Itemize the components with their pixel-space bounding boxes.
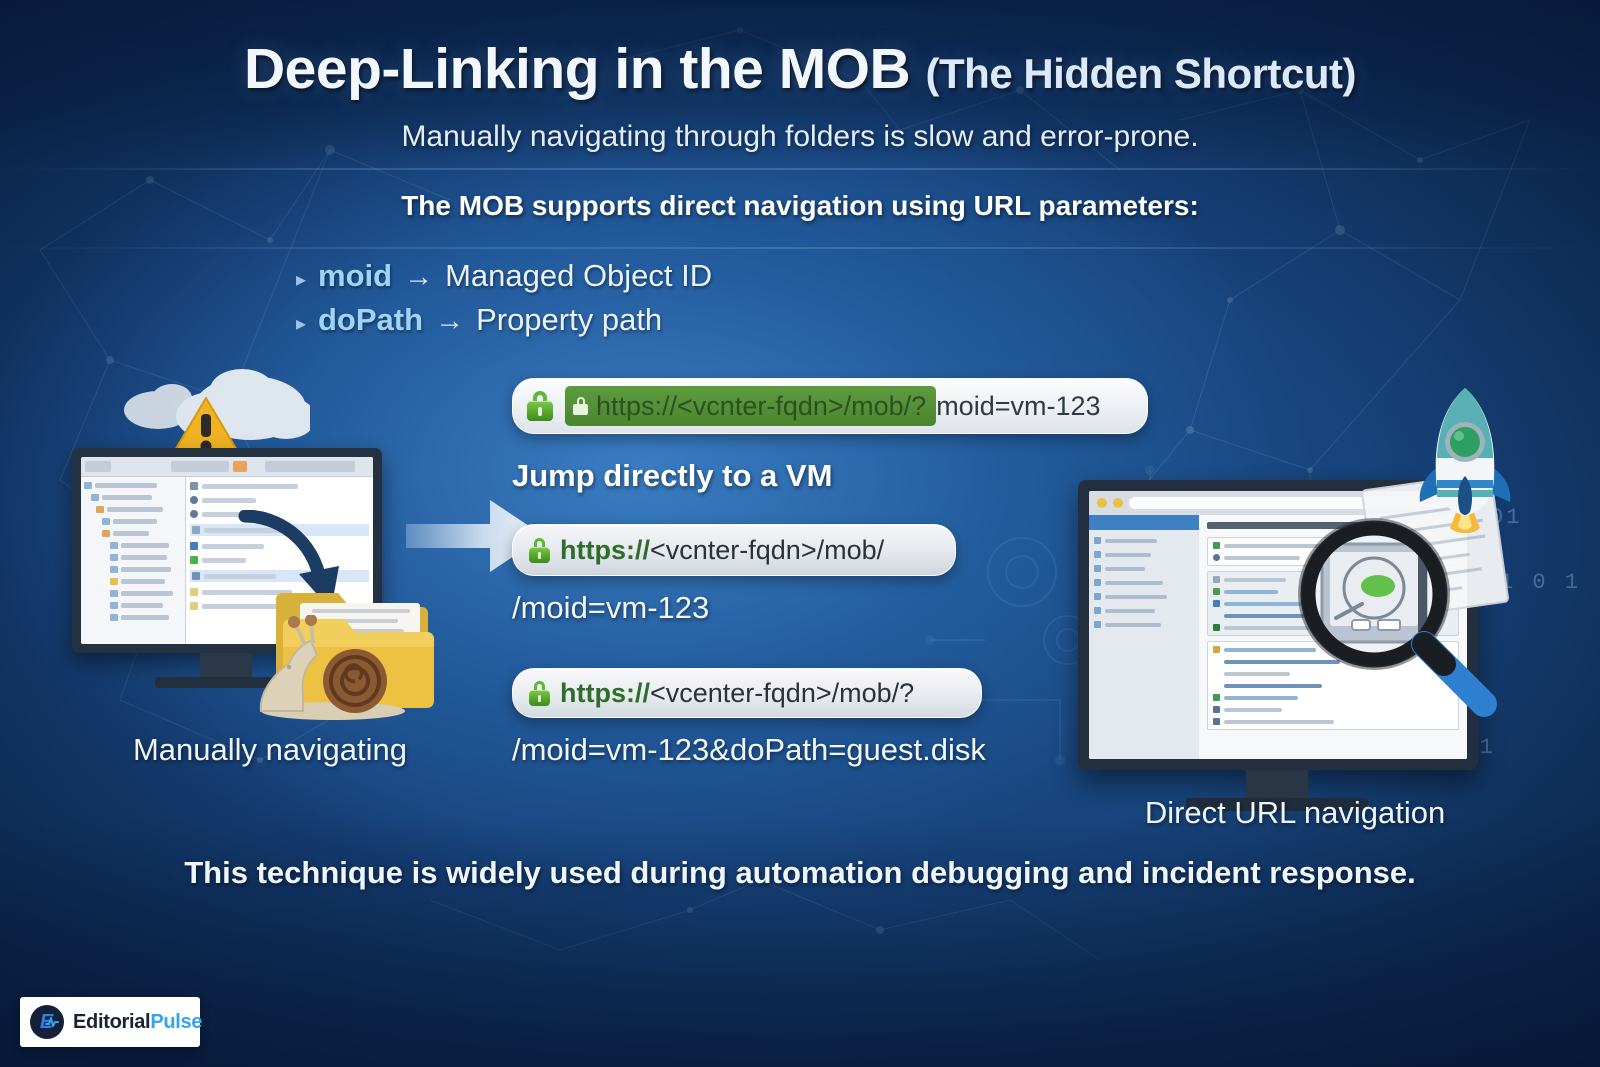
radio-icon <box>190 496 198 504</box>
tree-label <box>113 519 157 524</box>
row-icon <box>1213 670 1220 677</box>
parameter-meaning-dopath: Property path <box>476 302 662 338</box>
sidebar-label <box>1105 595 1167 599</box>
page-title-parenthetical: (The Hidden Shortcut) <box>926 50 1356 97</box>
url-bar-vm[interactable]: https:// <vcnter-fqdn>/mob/ <box>512 524 956 576</box>
lock-icon <box>529 538 550 563</box>
tree-label <box>121 591 173 596</box>
bullet-arrow-icon: ▸ <box>296 270 318 290</box>
tree-item <box>84 578 182 585</box>
snail-icon <box>255 615 410 720</box>
bullet-arrow-icon: ▸ <box>296 314 318 334</box>
sidebar-item <box>1089 593 1199 600</box>
list-item: ▸ doPath → Property path <box>296 302 712 338</box>
tree-label <box>102 495 152 500</box>
file-icon <box>110 566 118 573</box>
tree-label <box>121 555 167 560</box>
page-title: Deep-Linking in the MOB (The Hidden Shor… <box>0 36 1600 102</box>
lock-icon <box>573 397 588 415</box>
header: Deep-Linking in the MOB (The Hidden Shor… <box>0 0 1600 154</box>
sidebar-label <box>1105 581 1163 585</box>
tree-item <box>84 518 182 525</box>
file-icon <box>110 590 118 597</box>
tree-item <box>84 530 182 537</box>
tree-item <box>84 602 182 609</box>
object-icon <box>1094 593 1101 600</box>
brand-logo[interactable]: E EditorialPulse <box>20 997 200 1047</box>
row-icon <box>1213 612 1220 619</box>
window-dot <box>1113 498 1123 508</box>
lock-icon <box>527 391 553 421</box>
secure-url-chip: https://<vcnter-fqdn>/mob/? <box>565 386 936 426</box>
lead-statement: The MOB supports direct navigation using… <box>0 190 1600 222</box>
file-icon <box>110 554 118 561</box>
sidebar-label <box>1105 539 1157 543</box>
toolbar-chip <box>171 461 229 472</box>
item-icon <box>190 542 198 550</box>
object-icon <box>1094 565 1101 572</box>
sidebar-label <box>1105 567 1145 571</box>
row-label <box>1224 708 1282 712</box>
tree-label <box>121 603 163 608</box>
radio-icon <box>190 510 198 518</box>
sidebar-item <box>1089 607 1199 614</box>
item-icon <box>190 556 198 564</box>
manual-navigation-scene: Manually navigating <box>60 360 460 780</box>
toolbar-chip-highlight <box>233 461 247 472</box>
url-bar-dopath[interactable]: https:// <vcenter-fqdn>/mob/? <box>512 668 982 718</box>
file-tree-panel <box>81 477 186 644</box>
tree-label <box>121 615 169 620</box>
direct-navigation-scene: Direct URL navigation <box>1060 380 1580 840</box>
parameter-meaning-moid: Managed Object ID <box>445 258 712 294</box>
item-icon <box>190 588 198 596</box>
parameter-list: ▸ moid → Managed Object ID ▸ doPath → Pr… <box>296 258 712 346</box>
sidebar-item <box>1089 537 1199 544</box>
tree-item <box>84 482 182 489</box>
folder-icon <box>96 506 104 513</box>
tree-item <box>84 566 182 573</box>
brand-name: EditorialPulse <box>73 1011 202 1034</box>
brand-name-part1: Editorial <box>73 1011 150 1033</box>
row-label <box>1224 578 1286 582</box>
row-icon <box>1213 576 1220 583</box>
item-icon <box>190 602 198 610</box>
toolbar-chip <box>265 461 355 472</box>
item-label <box>202 484 298 489</box>
pulse-wave-icon <box>45 1016 59 1028</box>
sidebar-item <box>1089 565 1199 572</box>
url-host-path: <vcenter-fqdn>/mob/? <box>650 678 914 709</box>
item-icon <box>192 572 200 580</box>
tree-label <box>121 543 169 548</box>
list-item: ▸ moid → Managed Object ID <box>296 258 712 294</box>
lock-icon <box>529 681 550 706</box>
editorialpulse-mark-icon: E <box>30 1005 64 1039</box>
object-icon <box>1094 621 1101 628</box>
item-label <box>202 498 256 503</box>
tree-item <box>84 554 182 561</box>
divider-line-mid <box>0 247 1600 249</box>
file-icon <box>110 614 118 621</box>
sidebar-label <box>1105 553 1151 557</box>
mob-sidebar <box>1089 515 1199 759</box>
page-title-main: Deep-Linking in the MOB <box>244 37 910 101</box>
url-scheme: https:// <box>560 535 650 566</box>
sidebar-label <box>1105 609 1155 613</box>
list-row <box>190 496 369 504</box>
toolbar-chip <box>85 461 111 472</box>
tree-item <box>84 542 182 549</box>
sidebar-item <box>1089 579 1199 586</box>
url-bar-primary[interactable]: https://<vcnter-fqdn>/mob/? moid=vm-123 <box>512 378 1148 434</box>
tree-label <box>113 531 149 536</box>
row-icon <box>1213 624 1220 631</box>
file-icon <box>110 578 118 585</box>
tree-item <box>84 590 182 597</box>
row-icon <box>1213 694 1220 701</box>
caption-right: Direct URL navigation <box>1095 795 1495 831</box>
tree-item <box>84 494 182 501</box>
url-host-path: <vcnter-fqdn>/mob/ <box>650 535 884 566</box>
row-icon <box>1213 706 1220 713</box>
folder-icon <box>102 518 110 525</box>
infographic-canvas: 01 1 0 1 0 1 1 1 1 Deep-Linking in the M… <box>0 0 1600 1067</box>
left-monitor-stand <box>200 653 252 679</box>
sidebar-item <box>1089 551 1199 558</box>
tree-label <box>95 483 157 488</box>
row-icon <box>1213 718 1220 725</box>
list-row <box>190 482 369 490</box>
row-icon <box>1213 646 1220 653</box>
object-icon <box>1094 607 1101 614</box>
row-icon <box>1213 542 1220 549</box>
tree-label <box>121 567 171 572</box>
arrow-icon: → <box>404 261 433 294</box>
magnifying-glass-icon <box>1278 508 1518 723</box>
row-icon <box>1213 600 1220 607</box>
footer-note: This technique is widely used during aut… <box>0 855 1600 891</box>
url-scheme: https:// <box>560 678 650 709</box>
page-subtitle: Manually navigating through folders is s… <box>0 120 1600 154</box>
sidebar-header <box>1089 515 1199 530</box>
folder-icon <box>84 482 92 489</box>
file-icon <box>110 542 118 549</box>
caption-left: Manually navigating <box>90 732 450 768</box>
file-icon <box>110 602 118 609</box>
object-icon <box>1094 551 1101 558</box>
arrow-icon: → <box>435 305 464 338</box>
parameter-name-dopath: doPath <box>318 302 423 338</box>
item-icon <box>190 482 198 490</box>
tree-label <box>107 507 163 512</box>
sidebar-item <box>1089 621 1199 628</box>
folder-icon <box>91 494 99 501</box>
url-chip-text: https://<vcnter-fqdn>/mob/? <box>596 391 926 422</box>
left-screen-toolbar <box>81 457 373 477</box>
object-icon <box>1094 537 1101 544</box>
folder-icon <box>102 530 110 537</box>
row-icon <box>1213 682 1220 689</box>
sidebar-label <box>1105 623 1161 627</box>
brand-name-part2: Pulse <box>150 1011 202 1033</box>
row-label <box>1224 590 1278 594</box>
row-icon <box>1213 658 1220 665</box>
parameter-name-moid: moid <box>318 258 392 294</box>
row-icon <box>1213 588 1220 595</box>
tree-item <box>84 614 182 621</box>
item-icon <box>192 526 200 534</box>
tree-item <box>84 506 182 513</box>
tree-label <box>121 579 165 584</box>
window-dot <box>1097 498 1107 508</box>
divider-line-top <box>0 168 1600 170</box>
object-icon <box>1094 579 1101 586</box>
row-icon <box>1213 554 1220 561</box>
